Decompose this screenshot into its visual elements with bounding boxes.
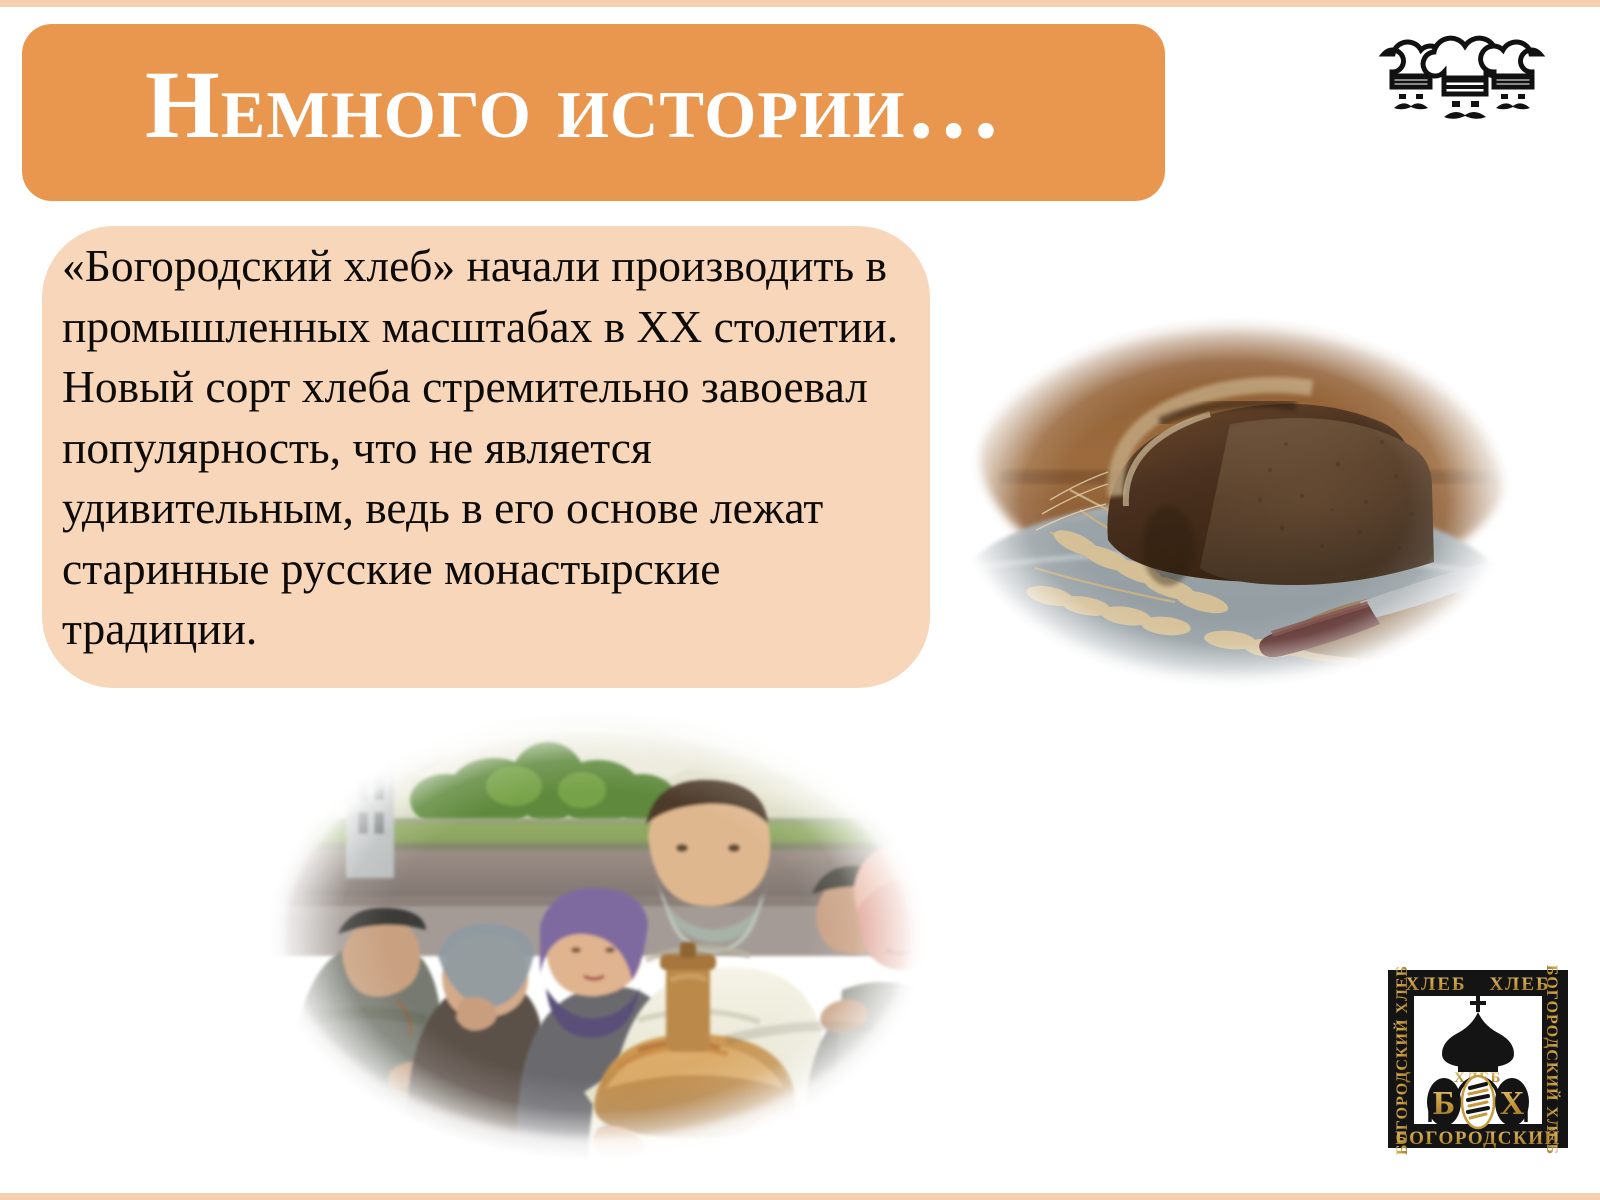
logo-monogram-h: Х: [1500, 1085, 1525, 1122]
chef-face-middle: [1444, 101, 1486, 119]
logo-monogram-b: Б: [1433, 1085, 1455, 1122]
chef-hats-icon: [1374, 24, 1550, 126]
body-paragraph: «Богородский хлеб» начали производить в …: [62, 236, 902, 660]
chef-face-right: [1496, 94, 1530, 109]
logo-right-border-text: БОГОРОДСКИЙ ХЛЕБ: [1543, 965, 1562, 1155]
bogorodsky-hleb-logo: ХЛЕБ ХЛЕБ БОГОРОДСКИЙ БОГОРОДСКИЙ ХЛЕБ Б…: [1374, 956, 1582, 1162]
villagers-bread-and-salt-painting: [246, 700, 948, 1170]
page-title: Немного истории…: [145, 50, 1085, 160]
logo-bottom-word: БОГОРОДСКИЙ: [1395, 1127, 1561, 1149]
logo-top-right-word: ХЛЕБ: [1489, 974, 1550, 995]
bottom-edge-strip: [0, 1193, 1600, 1200]
chef-hat-right: [1481, 42, 1540, 87]
chef-face-left: [1394, 94, 1428, 109]
logo-top-left-word: ХЛЕБ: [1405, 974, 1466, 995]
top-edge-strip: [0, 0, 1600, 7]
slide-canvas: Немного истории…: [0, 0, 1600, 1200]
logo-left-border-text: БОГОРОДСКИЙ ХЛЕБ: [1392, 965, 1411, 1155]
dark-rye-bread-photo: [930, 300, 1538, 704]
